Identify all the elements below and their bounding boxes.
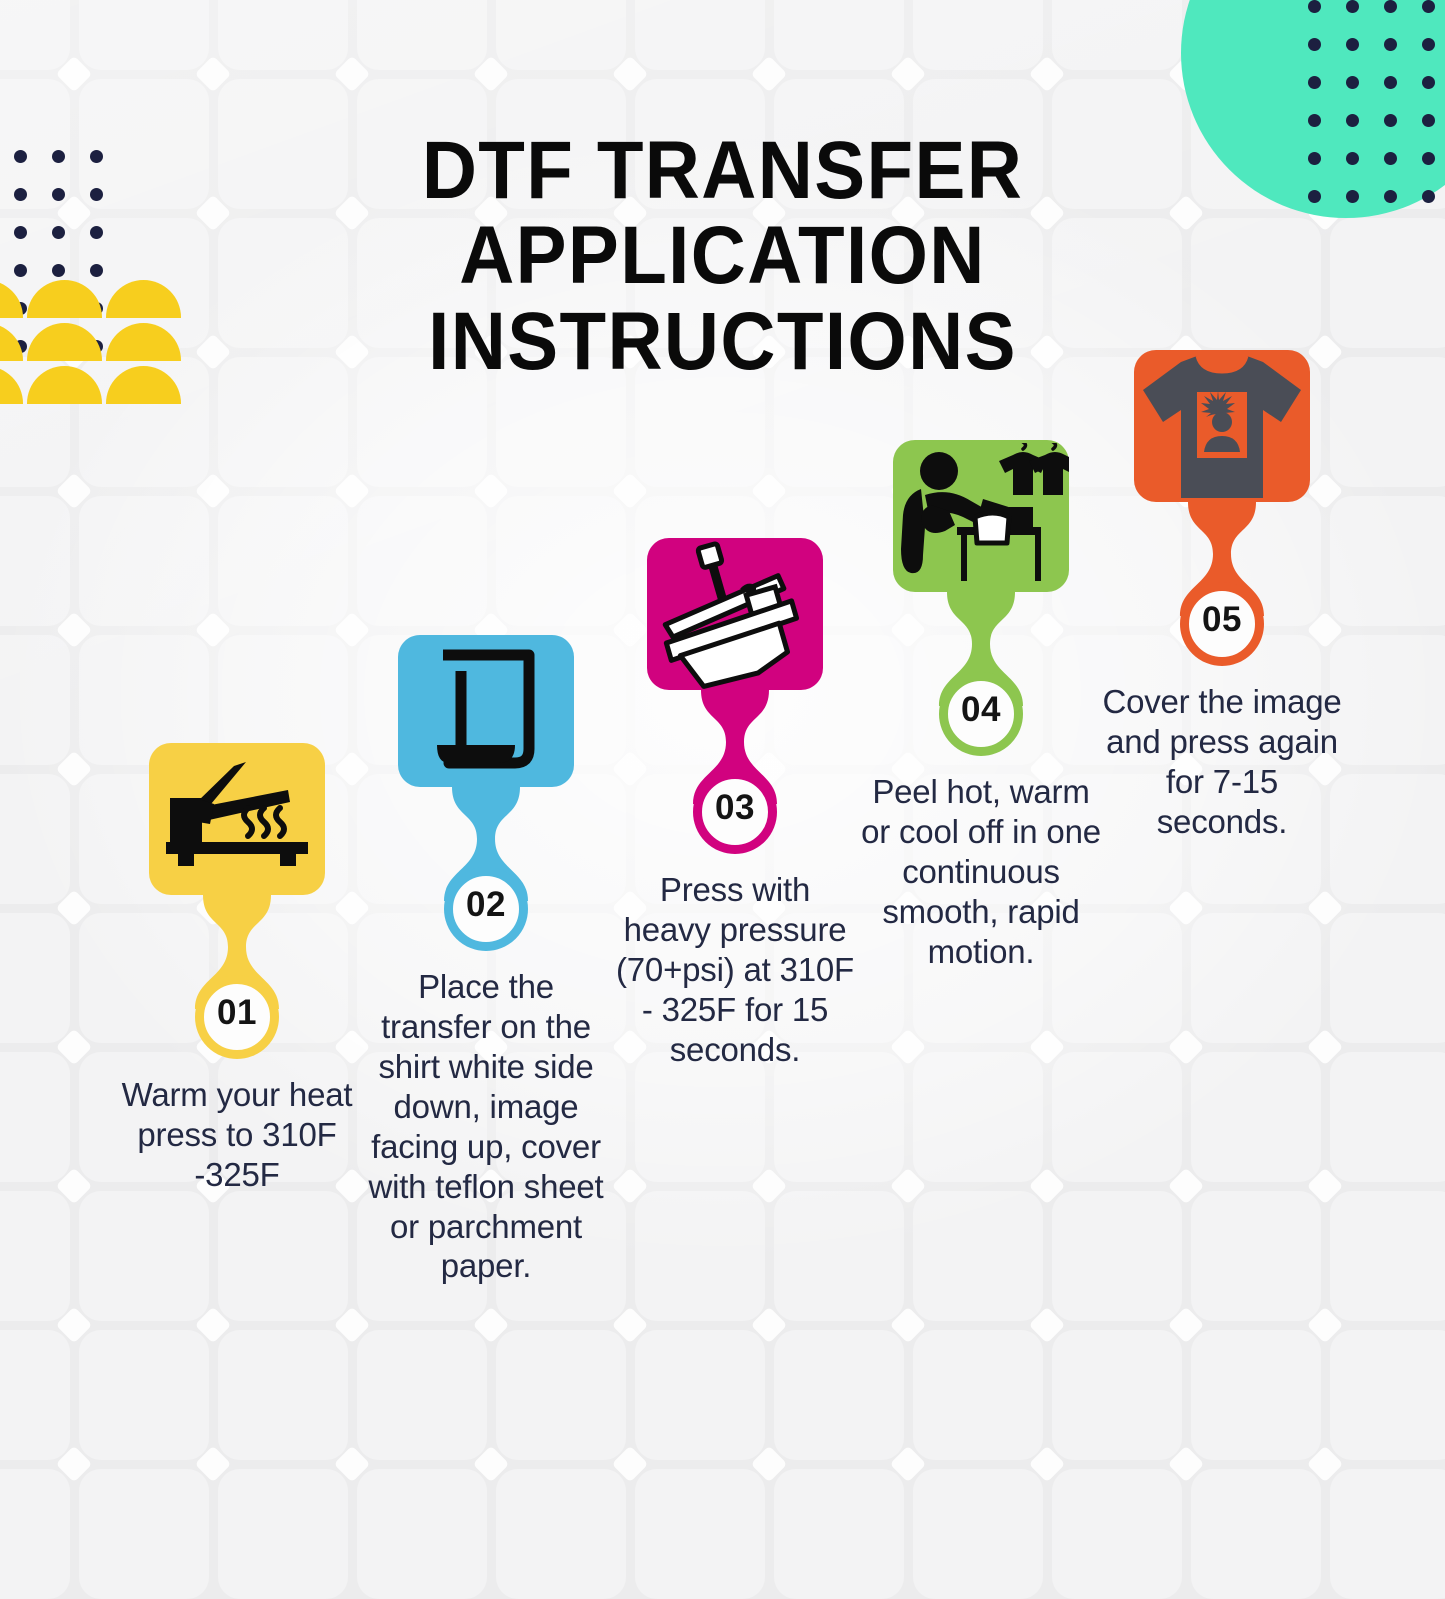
page-title: DTF TRANSFER APPLICATION INSTRUCTIONS (0, 128, 1445, 384)
step-05-badge-number: 05 (1177, 600, 1267, 640)
step-01-description: Warm your heat press to 310F -325F (111, 1075, 363, 1195)
heat-press-pressing-icon (647, 538, 823, 690)
step-03-description: Press with heavy pressure (70+psi) at 31… (609, 870, 861, 1070)
step-03[interactable]: 03Press with heavy pressure (70+psi) at … (609, 530, 861, 1070)
step-04-graphic: 04 (855, 432, 1107, 762)
step-01-badge-number: 01 (192, 993, 282, 1033)
page-title-line-1: DTF TRANSFER APPLICATION (190, 128, 1255, 299)
heat-press-open-icon (149, 743, 325, 895)
peel-transfer-person-icon (893, 440, 1069, 592)
step-02-description: Place the transfer on the shirt white si… (360, 967, 612, 1286)
step-05[interactable]: 05Cover the image and press again for 7-… (1096, 342, 1348, 842)
step-05-description: Cover the image and press again for 7-15… (1096, 682, 1348, 842)
step-02[interactable]: 02Place the transfer on the shirt white … (360, 627, 612, 1286)
step-01-graphic: 01 (111, 735, 363, 1065)
step-03-graphic: 03 (609, 530, 861, 860)
step-01[interactable]: 01Warm your heat press to 310F -325F (111, 735, 363, 1195)
page-title-line-2: INSTRUCTIONS (190, 299, 1255, 384)
step-02-badge-number: 02 (441, 885, 531, 925)
step-04-description: Peel hot, warm or cool off in one contin… (855, 772, 1107, 972)
step-05-graphic: 05 (1096, 342, 1348, 672)
step-02-graphic: 02 (360, 627, 612, 957)
step-03-badge-number: 03 (690, 788, 780, 828)
step-04-badge-number: 04 (936, 690, 1026, 730)
transfer-sheet-icon (398, 635, 574, 787)
step-04[interactable]: 04Peel hot, warm or cool off in one cont… (855, 432, 1107, 972)
